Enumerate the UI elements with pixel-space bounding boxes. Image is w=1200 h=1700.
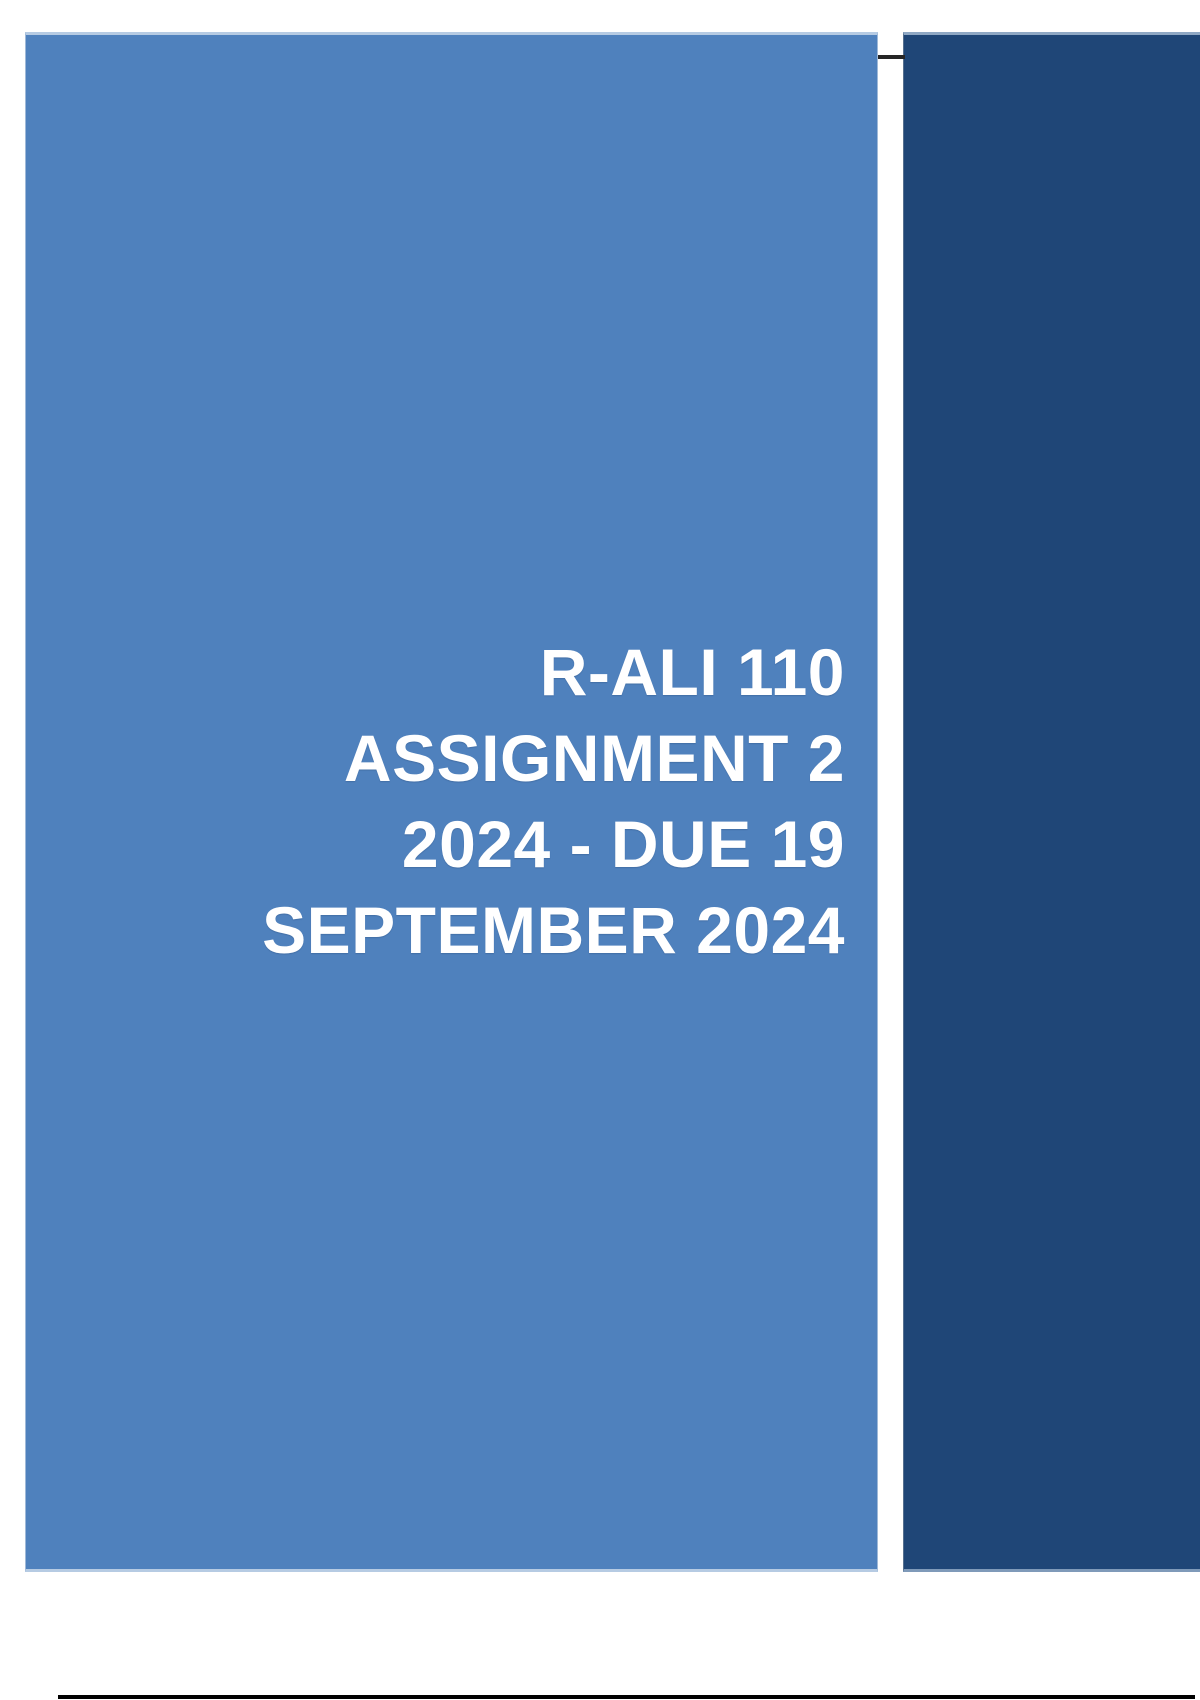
title-panel: R-ALI 110 ASSIGNMENT 2 2024 - DUE 19 SEP… xyxy=(25,32,878,1572)
cover-page: R-ALI 110 ASSIGNMENT 2 2024 - DUE 19 SEP… xyxy=(0,0,1200,1700)
footer-divider-rule xyxy=(58,1695,1195,1699)
gutter-divider-rule xyxy=(878,55,905,59)
accent-panel xyxy=(903,32,1200,1572)
page-title: R-ALI 110 ASSIGNMENT 2 2024 - DUE 19 SEP… xyxy=(125,630,877,973)
